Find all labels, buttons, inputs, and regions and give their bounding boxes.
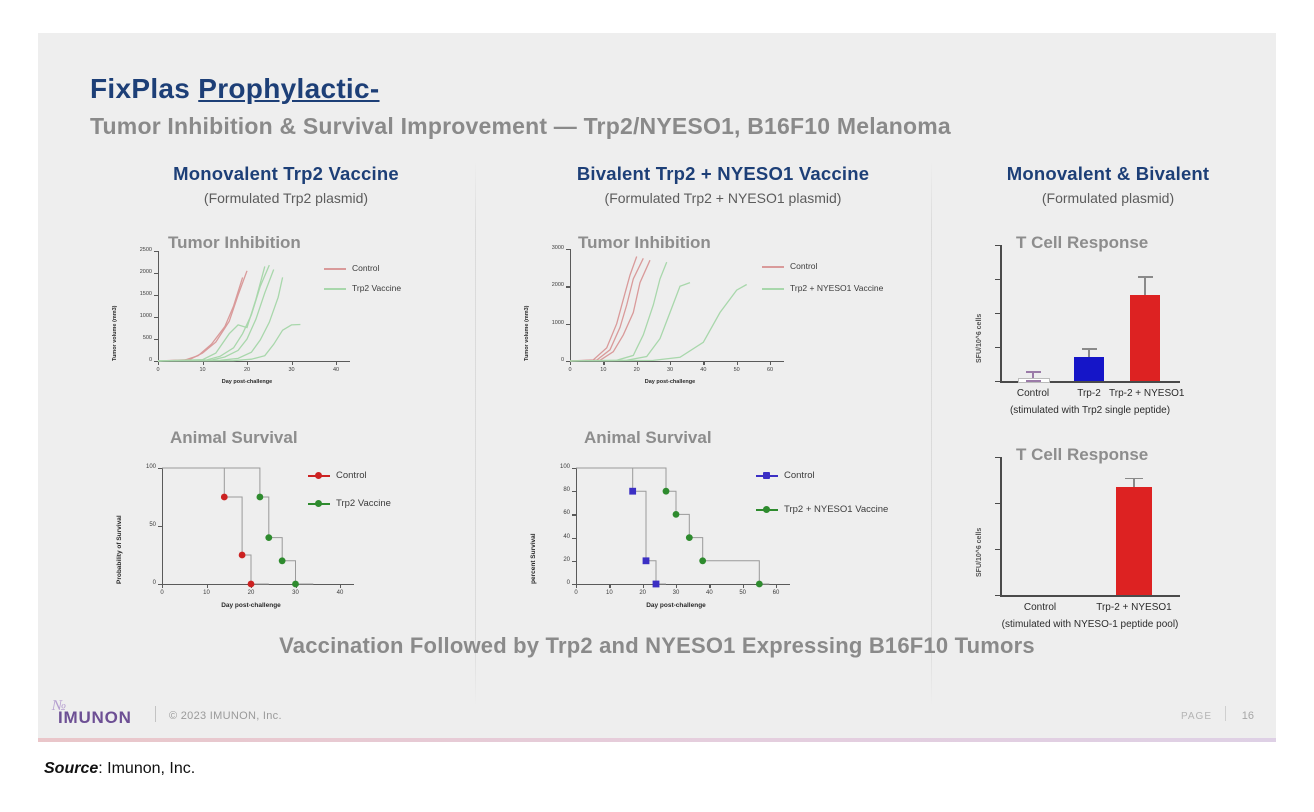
- screenshot-root: FixPlas Prophylactic- Tumor Inhibition &…: [0, 0, 1314, 812]
- legend-line: [762, 288, 784, 290]
- error-bar-cap: [1026, 371, 1041, 373]
- presentation-slide: FixPlas Prophylactic- Tumor Inhibition &…: [38, 33, 1276, 742]
- error-bar: [1082, 348, 1097, 356]
- legend-label: Trp2 Vaccine: [336, 498, 391, 509]
- legend-line: [308, 503, 330, 505]
- slide-title: FixPlas Prophylactic-: [90, 73, 380, 105]
- bar-category-label: Trp-2 + NYESO1: [1091, 602, 1177, 613]
- y-axis-line: [1000, 457, 1002, 595]
- series-line: [576, 468, 769, 584]
- chart-caption: (stimulated with Trp2 single peptide): [954, 405, 1226, 416]
- bar-category-label: Trp-2 + NYESO1: [1109, 388, 1181, 399]
- legend-line: [756, 509, 778, 511]
- plot-series-layer: [504, 233, 924, 403]
- error-bar-cap: [1125, 478, 1143, 480]
- imunon-logo-text: IMUNON: [58, 708, 132, 728]
- error-bar-stem: [1144, 276, 1146, 295]
- error-bar: [1026, 371, 1041, 378]
- legend-line: [308, 475, 330, 477]
- series-marker: [248, 581, 255, 588]
- series-line: [570, 262, 667, 361]
- column-divider-1: [475, 161, 476, 706]
- copyright-text: © 2023 IMUNON, Inc.: [169, 710, 282, 722]
- error-bar-cap: [1082, 348, 1097, 350]
- slide-title-plain: FixPlas: [90, 73, 198, 104]
- y-tick: [995, 245, 1000, 246]
- series-marker: [279, 557, 286, 564]
- y-tick: [995, 503, 1000, 504]
- column-heading: Bivalent Trp2 + NYESO1 Vaccine: [508, 163, 938, 185]
- column-heading: Monovalent & Bivalent: [948, 163, 1268, 185]
- plot-series-layer: [96, 233, 466, 403]
- series-line: [158, 265, 269, 361]
- series-line: [570, 285, 747, 362]
- source-label: Source: [44, 760, 98, 777]
- legend-line: [324, 288, 346, 290]
- y-tick: [995, 347, 1000, 348]
- chart-tcell-response-trp2: T Cell ResponseSFU/10^6 cellsControlTrp-…: [938, 231, 1268, 431]
- bar: [1116, 487, 1152, 595]
- series-line: [158, 270, 274, 362]
- series-line: [570, 258, 643, 361]
- slide-bottom-accent: [38, 738, 1276, 742]
- chart-tcell-response-nyeso: T Cell ResponseSFU/10^6 cellsControlTrp-…: [938, 445, 1268, 645]
- chart-tumor-inhibition-bivalent: Tumor Inhibition010002000300001020304050…: [504, 233, 924, 403]
- column-divider-2: [931, 161, 932, 706]
- error-bar: [1125, 478, 1143, 487]
- series-marker: [756, 581, 763, 588]
- footer-divider: [155, 706, 156, 722]
- page-divider: [1225, 706, 1226, 721]
- series-line: [162, 468, 313, 584]
- series-marker: [257, 494, 264, 501]
- series-marker: [653, 581, 660, 588]
- error-bar-base: [1026, 380, 1041, 382]
- chart-animal-survival-monovalent: Animal Survival050100010203040Day post-c…: [96, 428, 466, 623]
- series-line: [158, 277, 283, 361]
- legend-line: [756, 475, 778, 477]
- chart-animal-survival-bivalent: Animal Survival0204060801000102030405060…: [504, 428, 924, 623]
- legend-label: Control: [336, 470, 367, 481]
- column-header-bivalent: Bivalent Trp2 + NYESO1 Vaccine (Formulat…: [508, 163, 938, 206]
- legend-label: Control: [352, 263, 379, 273]
- legend-label: Trp2 Vaccine: [352, 283, 401, 293]
- page-label: PAGE: [1181, 711, 1212, 722]
- source-value: : Imunon, Inc.: [98, 760, 195, 777]
- legend-line: [762, 266, 784, 268]
- series-marker: [673, 511, 680, 518]
- legend-label: Trp2 + NYESO1 Vaccine: [784, 504, 888, 515]
- y-tick: [995, 549, 1000, 550]
- series-marker: [265, 534, 272, 541]
- bar: [1130, 295, 1160, 381]
- series-marker: [292, 581, 299, 588]
- plot-series-layer: [504, 428, 924, 623]
- slide-banner: Vaccination Followed by Trp2 and NYESO1 …: [38, 633, 1276, 659]
- legend-label: Control: [790, 261, 817, 271]
- chart-title: T Cell Response: [1016, 445, 1148, 465]
- y-tick: [995, 595, 1000, 596]
- series-marker: [221, 494, 228, 501]
- y-axis-line: [1000, 245, 1002, 381]
- legend-line: [324, 268, 346, 270]
- error-bar: [1138, 276, 1153, 295]
- series-line: [576, 468, 666, 584]
- bar-category-label: Control: [997, 602, 1083, 613]
- error-bar-cap: [1138, 276, 1153, 278]
- chart-caption: (stimulated with NYESO-1 peptide pool): [954, 619, 1226, 630]
- series-line: [162, 468, 269, 584]
- bar: [1074, 357, 1104, 381]
- series-marker: [643, 557, 650, 564]
- column-header-monovalent: Monovalent Trp2 Vaccine (Formulated Trp2…: [106, 163, 466, 206]
- chart-tumor-inhibition-monovalent: Tumor Inhibition050010001500200025000102…: [96, 233, 466, 403]
- series-marker: [239, 552, 246, 559]
- series-marker: [663, 488, 670, 495]
- legend-label: Control: [784, 470, 815, 481]
- y-axis-label: SFU/10^6 cells: [976, 314, 983, 363]
- y-axis-label: SFU/10^6 cells: [976, 528, 983, 577]
- column-subheading: (Formulated Trp2 plasmid): [106, 190, 466, 206]
- series-marker: [629, 488, 636, 495]
- column-subheading: (Formulated Trp2 + NYESO1 plasmid): [508, 190, 938, 206]
- series-line: [570, 257, 637, 362]
- y-tick: [995, 381, 1000, 382]
- column-heading: Monovalent Trp2 Vaccine: [106, 163, 466, 185]
- series-marker: [699, 557, 706, 564]
- legend-label: Trp2 + NYESO1 Vaccine: [790, 283, 883, 293]
- slide-footer: № IMUNON © 2023 IMUNON, Inc. PAGE 16: [38, 702, 1276, 730]
- slide-title-underlined: Prophylactic-: [198, 73, 379, 104]
- source-caption: Source: Imunon, Inc.: [44, 760, 195, 778]
- x-axis-line: [1000, 595, 1180, 597]
- y-tick: [995, 457, 1000, 458]
- column-header-combined: Monovalent & Bivalent (Formulated plasmi…: [948, 163, 1268, 206]
- slide-subtitle: Tumor Inhibition & Survival Improvement …: [90, 113, 951, 140]
- series-line: [158, 266, 265, 361]
- chart-title: T Cell Response: [1016, 233, 1148, 253]
- y-tick: [995, 279, 1000, 280]
- y-tick: [995, 313, 1000, 314]
- column-subheading: (Formulated plasmid): [948, 190, 1268, 206]
- page-number: 16: [1242, 710, 1254, 722]
- series-marker: [686, 534, 693, 541]
- plot-series-layer: [96, 428, 466, 623]
